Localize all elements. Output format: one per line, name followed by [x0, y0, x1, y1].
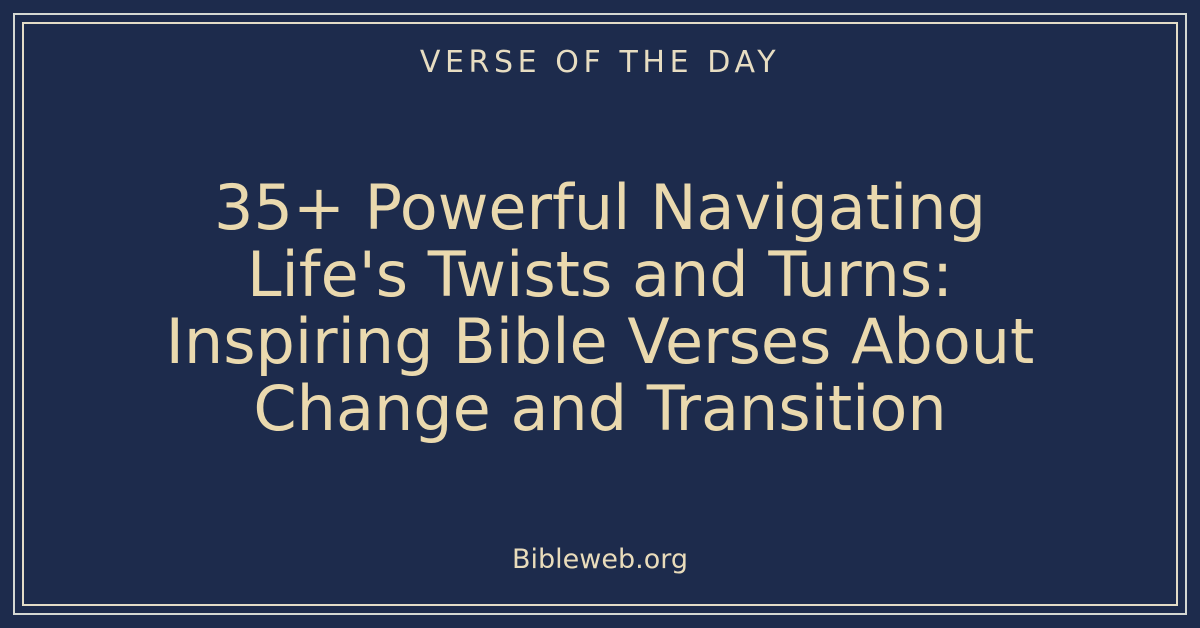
card-content: VERSE OF THE DAY 35+ Powerful Navigating…: [24, 24, 1176, 604]
page-title: 35+ Powerful Navigating Life's Twists an…: [24, 174, 1176, 442]
title-line: Change and Transition: [32, 375, 1168, 442]
verse-of-the-day-card: VERSE OF THE DAY 35+ Powerful Navigating…: [0, 0, 1200, 628]
eyebrow-label: VERSE OF THE DAY: [420, 46, 780, 80]
site-attribution: Bibleweb.org: [24, 544, 1176, 576]
title-line: 35+ Powerful Navigating: [32, 174, 1168, 241]
title-line: Inspiring Bible Verses About: [32, 308, 1168, 375]
title-line: Life's Twists and Turns:: [32, 241, 1168, 308]
